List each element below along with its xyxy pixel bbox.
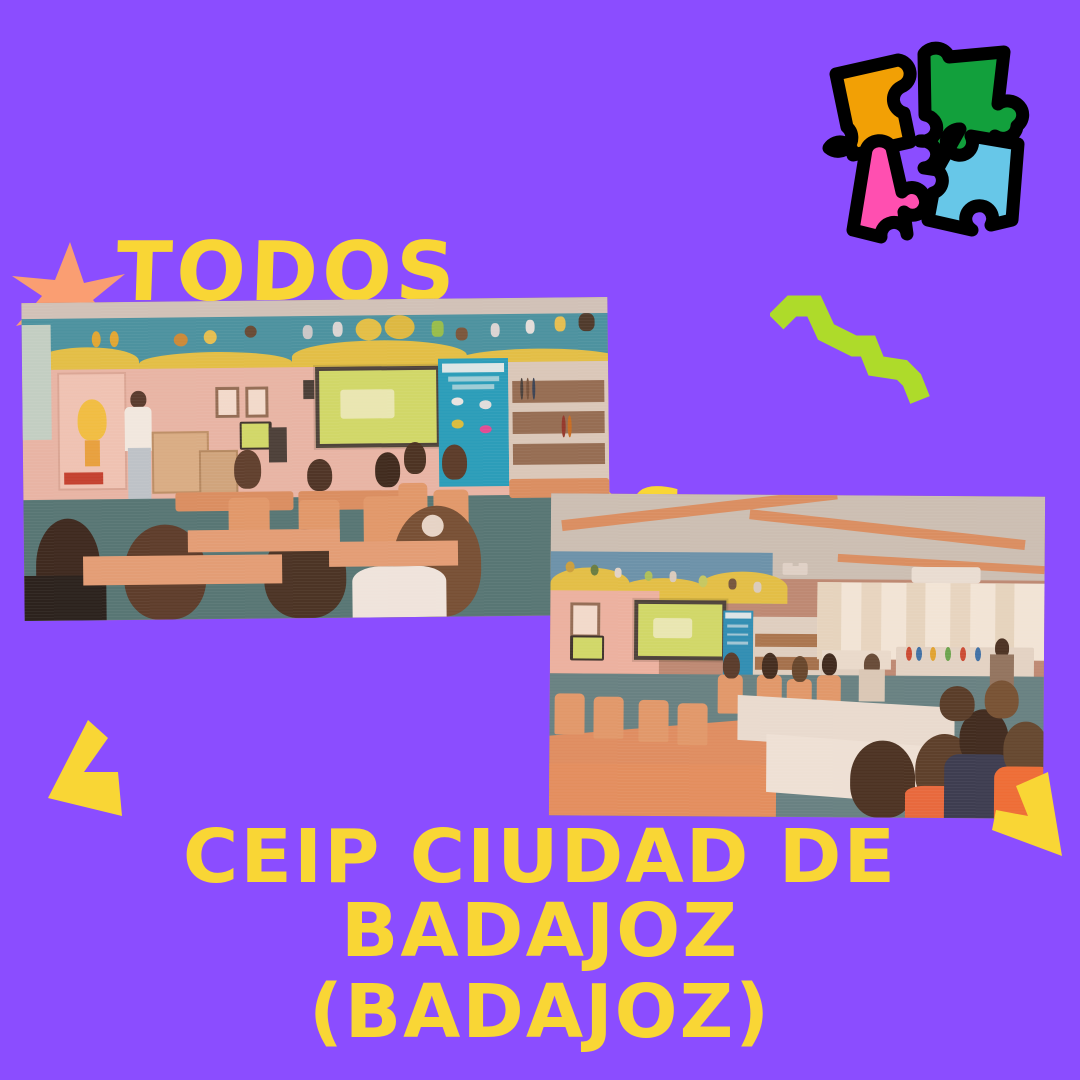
poster-canvas: TODOS ENCAJAMOS	[0, 0, 1080, 1080]
squiggle-wave-icon	[770, 288, 950, 408]
footer-line-1: CEIP CIUDAD DE BADAJOZ	[0, 820, 1080, 968]
library-wide-shot-photo	[549, 493, 1045, 818]
puzzle-pieces-logo	[806, 22, 1046, 252]
classroom-presentation-photo	[21, 297, 610, 621]
chevron-left-icon	[46, 716, 146, 822]
footer-title: CEIP CIUDAD DE BADAJOZ (BADAJOZ)	[0, 820, 1080, 1052]
footer-line-2: (BADAJOZ)	[0, 974, 1080, 1052]
chevron-right-icon	[972, 766, 1068, 862]
